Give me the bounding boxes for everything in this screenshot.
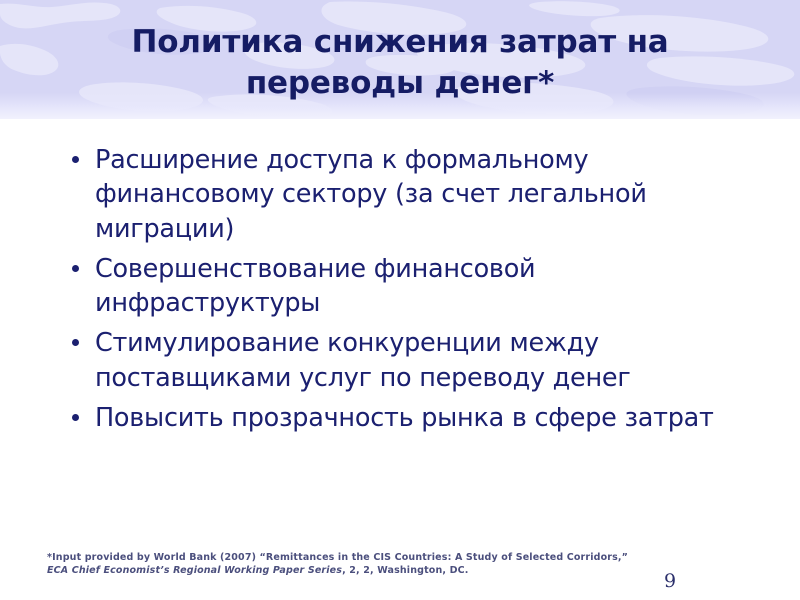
bullet-item: Повысить прозрачность рынка в сфере затр… — [64, 401, 714, 435]
slide-footnote: *Input provided by World Bank (2007) “Re… — [47, 552, 647, 577]
footnote-citation-italic: ECA Chief Economist’s Regional Working P… — [47, 565, 342, 576]
slide-page-number: 9 — [650, 570, 690, 592]
footnote-lead-text: *Input provided by World Bank (2007) “Re… — [47, 552, 628, 563]
presentation-slide: Политика снижения затрат на переводы ден… — [0, 0, 800, 600]
footnote-tail-text: , 2, 2, Washington, DC. — [342, 565, 468, 576]
bullet-item: Совершенствование финансовой инфраструкт… — [64, 252, 714, 321]
slide-title: Политика снижения затрат на переводы ден… — [60, 22, 740, 104]
slide-body-bullet-list: Расширение доступа к формальному финансо… — [64, 143, 714, 441]
bullet-item: Стимулирование конкуренции между поставщ… — [64, 326, 714, 395]
bullet-item: Расширение доступа к формальному финансо… — [64, 143, 714, 246]
